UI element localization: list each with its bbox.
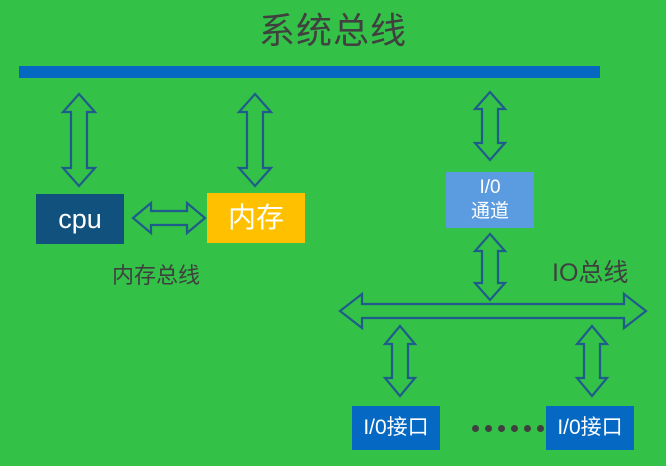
ellipsis-dot: [511, 425, 518, 432]
node-io-port-right-label: I/0接口: [557, 416, 622, 440]
diagram-canvas: 系统总线 cpu 内存 I/0 通道 内存总线 IO总线: [0, 0, 666, 466]
ellipsis-dot: [485, 425, 492, 432]
arrow-io-bus-to-port-left: [385, 326, 415, 396]
system-bus-bar: [19, 66, 600, 78]
arrow-memory-to-system-bus: [239, 94, 271, 186]
node-cpu[interactable]: cpu: [36, 194, 124, 244]
node-io-port-left[interactable]: I/0接口: [352, 406, 440, 450]
ellipsis-dot: [498, 425, 505, 432]
node-io-port-left-label: I/0接口: [363, 416, 428, 440]
arrow-io-bus: [340, 294, 646, 328]
node-memory[interactable]: 内存: [207, 193, 305, 243]
ellipsis-dot: [537, 425, 544, 432]
arrow-io-channel-to-system-bus: [475, 92, 505, 160]
ellipsis-dot: [524, 425, 531, 432]
io-bus-label: IO总线: [552, 258, 628, 288]
node-memory-label: 内存: [228, 203, 284, 233]
node-io-channel-label-line1: I/0: [479, 176, 500, 200]
arrow-io-bus-to-port-right: [577, 326, 607, 396]
memory-bus-label: 内存总线: [112, 263, 200, 289]
ellipsis-dots: [472, 418, 544, 438]
node-io-channel-label-line2: 通道: [471, 200, 509, 224]
node-io-port-right[interactable]: I/0接口: [546, 406, 634, 450]
page-title: 系统总线: [0, 8, 666, 54]
arrow-io-channel-to-io-bus: [475, 234, 505, 300]
arrow-cpu-to-memory: [133, 203, 205, 233]
node-cpu-label: cpu: [58, 204, 102, 234]
arrow-cpu-to-system-bus: [63, 94, 95, 186]
ellipsis-dot: [472, 425, 479, 432]
node-io-channel[interactable]: I/0 通道: [446, 172, 534, 228]
